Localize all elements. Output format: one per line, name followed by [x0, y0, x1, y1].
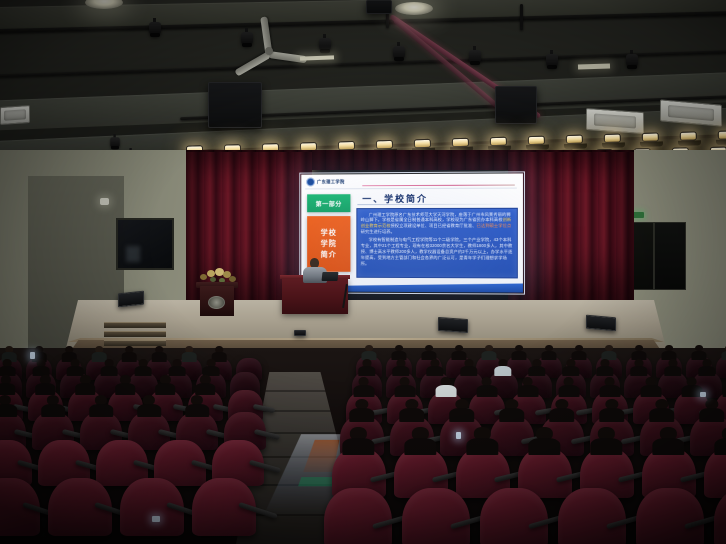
audience-shoulders	[41, 404, 65, 418]
seated audience member	[353, 377, 374, 397]
audience-shoulders	[449, 408, 475, 422]
seated audience member	[41, 395, 65, 417]
audience-shoulders	[76, 383, 96, 395]
audience-shoulders	[649, 408, 675, 422]
seated audience member	[152, 346, 167, 361]
stage-monitor-speaker	[118, 291, 144, 308]
stage-monitor-speaker	[438, 317, 468, 333]
seated audience member	[0, 395, 17, 417]
spotlight-fixture	[392, 42, 406, 62]
audience-shoulders	[156, 383, 176, 395]
seated audience member	[698, 359, 715, 376]
audience-shoulders	[715, 438, 726, 455]
podium	[196, 272, 238, 316]
seated audience member	[499, 399, 525, 422]
audience-shoulders	[467, 438, 498, 455]
slide-tag-topic-line: 学校	[321, 228, 337, 238]
slide-text-segment: 广州理工学院原名广东技术师范大学天河学院，座落于广州市风景秀丽的狮岭山脚下。学校…	[361, 211, 511, 222]
phone-screen-glow	[30, 352, 35, 359]
seated audience member	[101, 359, 118, 376]
seated audience member	[528, 359, 545, 376]
cable-box	[294, 330, 306, 336]
slide-text-segment: 学校有智能制造与电气工程学院等11个二级学院，三个产业学院，43个本科专业，其中…	[361, 237, 513, 266]
audience-shoulders	[699, 408, 725, 422]
audience-shoulders	[722, 385, 726, 397]
podium-crest-icon	[208, 296, 225, 309]
audience-shoulders	[152, 352, 167, 361]
seated audience member	[511, 345, 526, 360]
audience-shoulders	[196, 383, 216, 395]
seated audience member	[67, 359, 84, 376]
slide-text-segment: 授权立项建设单位、项目已经省教育厅批准、	[391, 223, 477, 228]
seated audience member	[203, 359, 220, 376]
audience-shoulders	[681, 385, 702, 397]
seated audience member	[392, 359, 409, 376]
control-booth-window	[116, 218, 174, 270]
slide-header-rule	[362, 185, 515, 187]
air-conditioner-unit	[0, 105, 30, 125]
slide-title-underline	[357, 204, 518, 205]
audience-shoulders	[394, 385, 415, 397]
audience-shoulders	[460, 366, 477, 377]
university-emblem-icon	[306, 177, 315, 186]
seated audience member	[591, 427, 622, 455]
seated audience member	[343, 427, 374, 455]
slide-tag-part: 第一部分	[307, 194, 350, 212]
stage-curtain-right	[508, 152, 634, 304]
seated audience member	[715, 427, 726, 455]
auditorium seat	[402, 488, 470, 544]
seated audience member	[426, 359, 443, 376]
audience-shoulders	[116, 383, 136, 395]
audience-shoulders	[399, 408, 425, 422]
seated audience member	[89, 395, 113, 417]
seated audience member	[596, 359, 613, 376]
seated audience member	[476, 377, 497, 397]
seated audience member	[571, 345, 586, 360]
air-conditioner-unit	[586, 108, 644, 134]
seated audience member	[135, 359, 152, 376]
seated audience member	[33, 359, 50, 376]
spotlight-fixture	[625, 50, 639, 70]
seated audience member	[653, 427, 684, 455]
seated audience member	[349, 399, 375, 422]
wall-sconce-icon	[100, 198, 109, 205]
presenter-table	[282, 278, 348, 314]
audience-shoulders	[528, 366, 545, 377]
seated audience member	[541, 345, 556, 360]
audience-shoulders	[405, 438, 436, 455]
audience-shoulders	[137, 404, 161, 418]
seated audience member	[394, 377, 415, 397]
seated audience member	[681, 377, 702, 397]
seated audience member	[137, 395, 161, 417]
seated audience member	[631, 345, 646, 360]
seated audience member	[435, 377, 456, 397]
seated audience member	[481, 345, 496, 360]
audience-shoulders	[185, 404, 209, 418]
truss-dropper	[520, 4, 523, 30]
slide-text-segment: 已达到硕士学位点	[477, 223, 512, 228]
seated audience member	[649, 399, 675, 422]
seated audience member	[76, 375, 96, 394]
spotlight-fixture	[318, 34, 332, 54]
phone-screen-glow	[152, 516, 160, 522]
slide-tag-topic-line: 学院	[321, 239, 337, 249]
audience-shoulders	[135, 366, 152, 377]
seated audience member	[664, 359, 681, 376]
audience-shoulders	[89, 404, 113, 418]
seated audience member	[691, 345, 706, 360]
audience-shoulders	[562, 366, 579, 377]
seated audience member	[0, 359, 15, 376]
audience-shoulders	[358, 366, 375, 377]
auditorium seat	[636, 488, 704, 544]
fluorescent-strip	[578, 63, 610, 69]
slide-body-text-panel: 广州理工学院原名广东技术师范大学天河学院，座落于广州市风景秀丽的狮岭山脚下。学校…	[356, 208, 517, 279]
audience-shoulders	[549, 408, 575, 422]
audience-shoulders	[630, 366, 647, 377]
audience-shoulders	[596, 366, 613, 377]
audience-shoulders	[499, 408, 525, 422]
seated audience member	[467, 427, 498, 455]
ceiling-projector	[366, 0, 392, 14]
audience-shoulders	[36, 383, 56, 395]
seated audience member	[661, 345, 676, 360]
auditorium-photo: 广东理工学院 一、学校简介 第一部分 学校 学院 简介 广州理工学院原名广东技术…	[0, 0, 726, 544]
seated audience member	[549, 399, 575, 422]
seated audience member	[399, 399, 425, 422]
slide-logo-text: 广东理工学院	[317, 179, 345, 185]
audience-shoulders	[392, 366, 409, 377]
seated audience member	[185, 395, 209, 417]
audience-shoulders	[0, 404, 17, 418]
hanging-speaker	[208, 82, 262, 128]
auditorium seat	[324, 488, 392, 544]
seated audience member	[721, 345, 726, 360]
auditorium seat	[480, 488, 548, 544]
audience-shoulders	[517, 385, 538, 397]
audience-shoulders	[558, 385, 579, 397]
seated audience member	[0, 375, 15, 394]
slide-text-segment: 研究生进行培养。	[361, 229, 395, 234]
audience-shoulders	[494, 366, 511, 377]
seated audience member	[421, 345, 436, 360]
slide-header-rule-secondary	[305, 188, 517, 190]
audience-shoulders	[343, 438, 374, 455]
audience-shoulders	[435, 385, 456, 397]
seated audience member	[358, 359, 375, 376]
seated audience member	[494, 359, 511, 376]
audience-shoulders	[640, 385, 661, 397]
audience-shoulders	[349, 408, 375, 422]
seated audience member	[361, 345, 376, 360]
audience-shoulders	[698, 366, 715, 377]
seated audience member	[36, 375, 56, 394]
spotlight-fixture	[468, 46, 482, 66]
spotlight-fixture	[545, 50, 559, 70]
audience-shoulders	[664, 366, 681, 377]
seated audience member	[405, 427, 436, 455]
spotlight-fixture	[109, 134, 120, 150]
audience-shoulders	[653, 438, 684, 455]
audience-shoulders	[353, 385, 374, 397]
exit-door	[654, 222, 686, 290]
ceiling-fan-icon	[232, 40, 306, 62]
slide-paragraph: 学校有智能制造与电气工程学院等11个二级学院，三个产业学院，43个本科专业，其中…	[361, 237, 513, 267]
seated audience member	[529, 427, 560, 455]
audience-shoulders	[591, 438, 622, 455]
hanging-speaker	[495, 86, 537, 124]
audience-shoulders	[599, 408, 625, 422]
audience-shoulders	[426, 366, 443, 377]
seated audience member	[630, 359, 647, 376]
audience-shoulders	[0, 383, 15, 395]
audience-shoulders	[511, 351, 526, 360]
seated audience member	[599, 399, 625, 422]
slide-paragraph: 广州理工学院原名广东技术师范大学天河学院，座落于广州市风景秀丽的狮岭山脚下。学校…	[361, 211, 513, 235]
spotlight-fixture	[148, 18, 162, 38]
fluorescent-strip	[300, 55, 334, 60]
audience-shoulders	[599, 385, 620, 397]
seated audience member	[156, 375, 176, 394]
seated audience member	[640, 377, 661, 397]
seated audience member	[196, 375, 216, 394]
stage-monitor-speaker	[586, 315, 616, 332]
audience-shoulders	[476, 385, 497, 397]
seated audience member	[699, 399, 725, 422]
laptop	[322, 272, 339, 281]
seated audience member	[562, 359, 579, 376]
seated audience member	[599, 377, 620, 397]
auditorium seat	[558, 488, 626, 544]
seated audience member	[169, 359, 186, 376]
seated audience member	[558, 377, 579, 397]
slide-university-logo: 广东理工学院	[306, 177, 345, 186]
seated audience member	[451, 345, 466, 360]
lighting-truss	[0, 49, 726, 78]
seated audience member	[116, 375, 136, 394]
ceiling-downlight-icon	[395, 2, 433, 15]
seated audience member	[722, 377, 726, 397]
seated audience member	[391, 345, 406, 360]
seated audience member	[517, 377, 538, 397]
audience-shoulders	[721, 351, 726, 360]
seated audience member	[601, 345, 616, 360]
seated audience member	[460, 359, 477, 376]
audience-shoulders	[529, 438, 560, 455]
seated audience member	[449, 399, 475, 422]
phone-screen-glow	[700, 392, 706, 397]
phone-screen-glow	[456, 432, 461, 439]
